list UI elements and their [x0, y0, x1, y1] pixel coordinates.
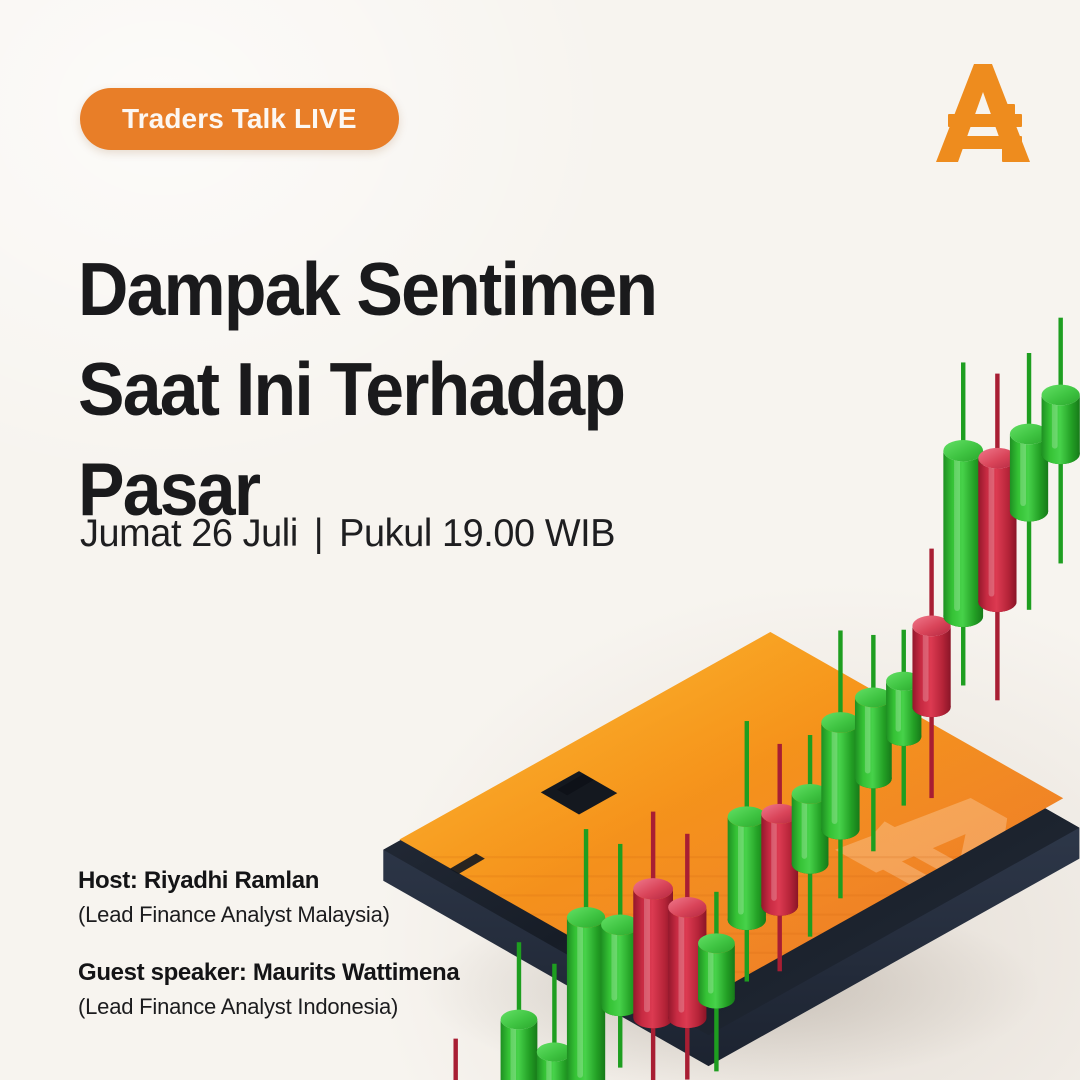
wick-upper [995, 374, 999, 465]
schedule-line: Jumat 26 Juli | Pukul 19.00 WIB [80, 512, 615, 556]
cylinder-top-cap [886, 672, 921, 691]
cylinder-bottom-cap [792, 854, 829, 874]
cylinder-bottom-cap [821, 819, 859, 840]
wick-upper [838, 630, 842, 728]
logo-svg [930, 58, 1034, 168]
phone-earpiece [557, 774, 594, 795]
candlestick-19-up [1010, 353, 1048, 610]
cylinder-top-cap [912, 616, 950, 637]
wick-upper [961, 362, 965, 456]
cylinder-bottom-cap [1042, 443, 1080, 464]
page-title: Dampak Sentimen Saat Ini Terhadap Pasar [78, 240, 748, 539]
cylinder-top-cap [855, 688, 892, 708]
cylinder-top-cap [633, 878, 673, 899]
cylinder-barrel [855, 697, 892, 788]
cylinder-highlight [708, 949, 714, 993]
wick-lower [1058, 449, 1062, 563]
cylinder-barrel [668, 907, 706, 1028]
wick-upper [871, 635, 875, 703]
cylinder-top-cap [943, 440, 983, 461]
wick-lower [902, 732, 906, 806]
cylinder-bottom-cap [761, 896, 798, 916]
candlestick-18-down [978, 374, 1016, 701]
wick-lower [1027, 507, 1031, 610]
cylinder-bottom-cap [633, 1007, 673, 1028]
cylinder-top-cap [537, 1043, 572, 1062]
speaker-host-role: (Lead Finance Analyst Malaysia) [78, 899, 638, 931]
cylinder-barrel [1010, 434, 1048, 522]
cylinder-barrel [698, 943, 735, 1008]
cylinder-bottom-cap [886, 727, 921, 746]
wick-lower [714, 994, 718, 1071]
wick-lower [745, 915, 749, 981]
cylinder-top-cap [761, 804, 798, 824]
cylinder-highlight [923, 632, 929, 702]
wick-upper [745, 721, 749, 823]
schedule-time: Pukul 19.00 WIB [339, 512, 615, 555]
cylinder-bottom-cap [855, 769, 892, 789]
candlestick-20-up [1042, 318, 1080, 564]
speaker-guest-name: Guest speaker: Maurits Wattimena [78, 957, 638, 988]
poster-canvas: Traders Talk LIVE Dampak Sentimen Saat I… [0, 0, 1080, 1080]
phone-notch [541, 771, 618, 814]
wick-upper [453, 1039, 457, 1080]
cylinder-barrel [821, 722, 859, 839]
headline-line-1: Dampak Sentimen [78, 240, 748, 340]
wick-upper [929, 549, 933, 632]
cylinder-barrel [728, 817, 766, 930]
candlestick-11-down [761, 744, 798, 971]
candlestick-10-up [728, 721, 766, 981]
headline-line-2: Saat Ini Terhadap [78, 340, 748, 440]
cylinder-highlight [511, 1025, 517, 1080]
wick-upper [808, 735, 812, 800]
speaker-guest-role: (Lead Finance Analyst Indonesia) [78, 991, 638, 1023]
speaker-list: Host: Riyadhi Ramlan (Lead Finance Analy… [78, 865, 638, 1023]
wick-upper [777, 744, 781, 820]
cylinder-highlight [546, 1058, 551, 1080]
candlestick-1-down [437, 1039, 474, 1080]
candlestick-8-down [668, 834, 706, 1080]
cylinder-barrel [501, 1019, 538, 1080]
cylinder-top-cap [668, 897, 706, 918]
cylinder-barrel [537, 1052, 572, 1080]
candlestick-12-up [792, 735, 829, 937]
cylinder-highlight [679, 914, 685, 1013]
cylinder-highlight [1020, 440, 1026, 506]
cylinder-bottom-cap [912, 696, 950, 717]
wick-lower [838, 825, 842, 899]
cylinder-highlight [644, 895, 650, 1012]
candlestick-14-up [855, 635, 892, 851]
wick-lower [685, 1013, 689, 1079]
cylinder-bottom-cap [567, 1073, 605, 1080]
wick-upper [1058, 318, 1062, 401]
cylinder-bottom-cap [943, 606, 983, 627]
cylinder-top-cap [698, 933, 735, 953]
cylinder-highlight [832, 729, 838, 824]
cylinder-bottom-cap [728, 909, 766, 930]
live-badge-label: Traders Talk LIVE [122, 103, 357, 135]
cylinder-highlight [738, 823, 744, 915]
live-badge[interactable]: Traders Talk LIVE [80, 88, 399, 150]
wick-lower [995, 597, 999, 700]
cylinder-top-cap [1042, 385, 1080, 406]
wick-lower [871, 774, 875, 851]
wick-upper [685, 834, 689, 913]
cylinder-top-cap [821, 712, 859, 733]
wick-upper [651, 812, 655, 895]
cylinder-bottom-cap [668, 1007, 706, 1028]
altcoin-a-logo-icon [930, 58, 1034, 168]
cylinder-top-cap [792, 784, 829, 804]
wick-lower [808, 859, 812, 936]
schedule-date: Jumat 26 Juli [80, 512, 298, 555]
speaker-host-name: Host: Riyadhi Ramlan [78, 865, 638, 896]
cylinder-highlight [954, 457, 960, 611]
speaker-host: Host: Riyadhi Ramlan (Lead Finance Analy… [78, 865, 638, 931]
cylinder-highlight [771, 820, 777, 901]
candlestick-16-down [912, 549, 950, 798]
cylinder-barrel [792, 794, 829, 874]
cylinder-highlight [989, 464, 995, 596]
candlestick-17-up [943, 362, 983, 685]
cylinder-highlight [1052, 401, 1058, 449]
wick-upper [1027, 353, 1031, 440]
cylinder-top-cap [1010, 424, 1048, 445]
cylinder-highlight [865, 703, 871, 773]
screen-watermark-a-icon [835, 765, 1066, 936]
cylinder-highlight [896, 687, 901, 732]
cylinder-barrel [978, 458, 1016, 612]
candlestick-15-up [886, 630, 921, 806]
wick-lower [777, 901, 781, 971]
cylinder-top-cap [728, 806, 766, 827]
cylinder-barrel [886, 681, 921, 746]
cylinder-barrel [943, 451, 983, 627]
candlestick-9-up [698, 892, 735, 1072]
cylinder-barrel [633, 889, 673, 1029]
schedule-separator: | [308, 512, 329, 556]
wick-lower [929, 702, 933, 798]
wick-upper [902, 630, 906, 687]
wick-lower [651, 1013, 655, 1080]
cylinder-bottom-cap [978, 591, 1016, 612]
cylinder-barrel [1042, 395, 1080, 464]
cylinder-barrel [912, 626, 950, 717]
cylinder-bottom-cap [1010, 501, 1048, 522]
candlestick-13-up [821, 630, 859, 898]
cylinder-bottom-cap [698, 989, 735, 1009]
cylinder-top-cap [978, 448, 1016, 469]
wick-lower [961, 612, 965, 686]
cylinder-barrel [761, 814, 798, 916]
cylinder-highlight [802, 800, 808, 859]
speaker-guest: Guest speaker: Maurits Wattimena (Lead F… [78, 957, 638, 1023]
wick-upper [714, 892, 718, 949]
candlestick-7-down [633, 812, 673, 1080]
